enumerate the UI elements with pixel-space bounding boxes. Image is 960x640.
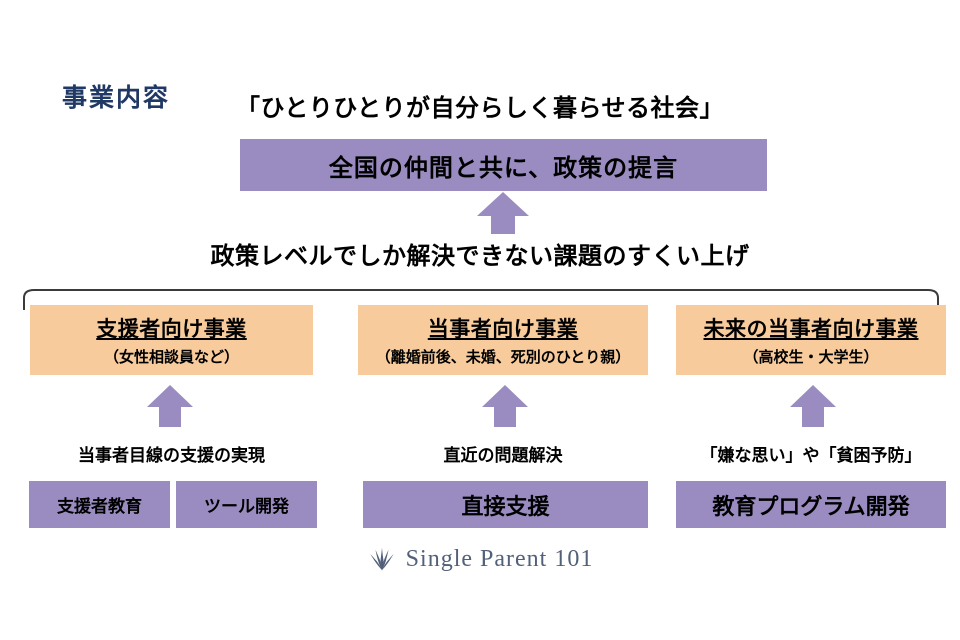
vision-caption: 「ひとりひとりが自分らしく暮らせる社会」 — [0, 88, 960, 123]
middle-caption: 政策レベルでしか解決できない課題のすくい上げ — [0, 236, 960, 271]
program-title-2: 当事者向け事業 — [428, 313, 579, 343]
fan-logo-icon — [367, 544, 397, 574]
program-subtitle-3: （高校生・大学生） — [743, 346, 878, 367]
outcome-box-2a[interactable]: 直接支援 — [363, 481, 648, 528]
outcome-box-1b[interactable]: ツール開発 — [176, 481, 317, 528]
program-box-3[interactable]: 未来の当事者向け事業 （高校生・大学生） — [676, 305, 946, 375]
program-title-1: 支援者向け事業 — [96, 313, 247, 343]
arrow-up-to-vision — [473, 192, 533, 234]
arrow-up-column-1 — [143, 385, 197, 427]
arrow-up-column-2 — [478, 385, 532, 427]
program-box-2[interactable]: 当事者向け事業 （離婚前後、未婚、死別のひとり親） — [358, 305, 648, 375]
program-box-1[interactable]: 支援者向け事業 （女性相談員など） — [30, 305, 313, 375]
program-subtitle-1: （女性相談員など） — [104, 346, 239, 367]
outcome-box-3a[interactable]: 教育プログラム開発 — [676, 481, 946, 528]
slide-canvas: 事業内容 「ひとりひとりが自分らしく暮らせる社会」 全国の仲間と共に、政策の提言… — [0, 0, 960, 640]
footer-logo: Single Parent 101 — [0, 544, 960, 574]
vision-bar-label: 全国の仲間と共に、政策の提言 — [329, 148, 678, 183]
vision-bar: 全国の仲間と共に、政策の提言 — [240, 139, 767, 191]
outcome-caption-2: 直近の問題解決 — [358, 441, 648, 466]
program-subtitle-2: （離婚前後、未婚、死別のひとり親） — [376, 346, 631, 367]
outcome-box-1a-label: 支援者教育 — [57, 492, 142, 517]
outcome-box-2a-label: 直接支援 — [461, 489, 549, 521]
outcome-caption-3: 「嫌な思い」や「貧困予防」 — [676, 441, 946, 466]
program-title-3: 未来の当事者向け事業 — [704, 313, 919, 343]
footer-logo-text: Single Parent 101 — [406, 546, 594, 573]
arrow-up-column-3 — [786, 385, 840, 427]
outcome-box-1b-label: ツール開発 — [204, 492, 289, 517]
outcome-box-1a[interactable]: 支援者教育 — [29, 481, 170, 528]
outcome-box-3a-label: 教育プログラム開発 — [712, 489, 909, 521]
outcome-caption-1: 当事者目線の支援の実現 — [30, 441, 313, 466]
